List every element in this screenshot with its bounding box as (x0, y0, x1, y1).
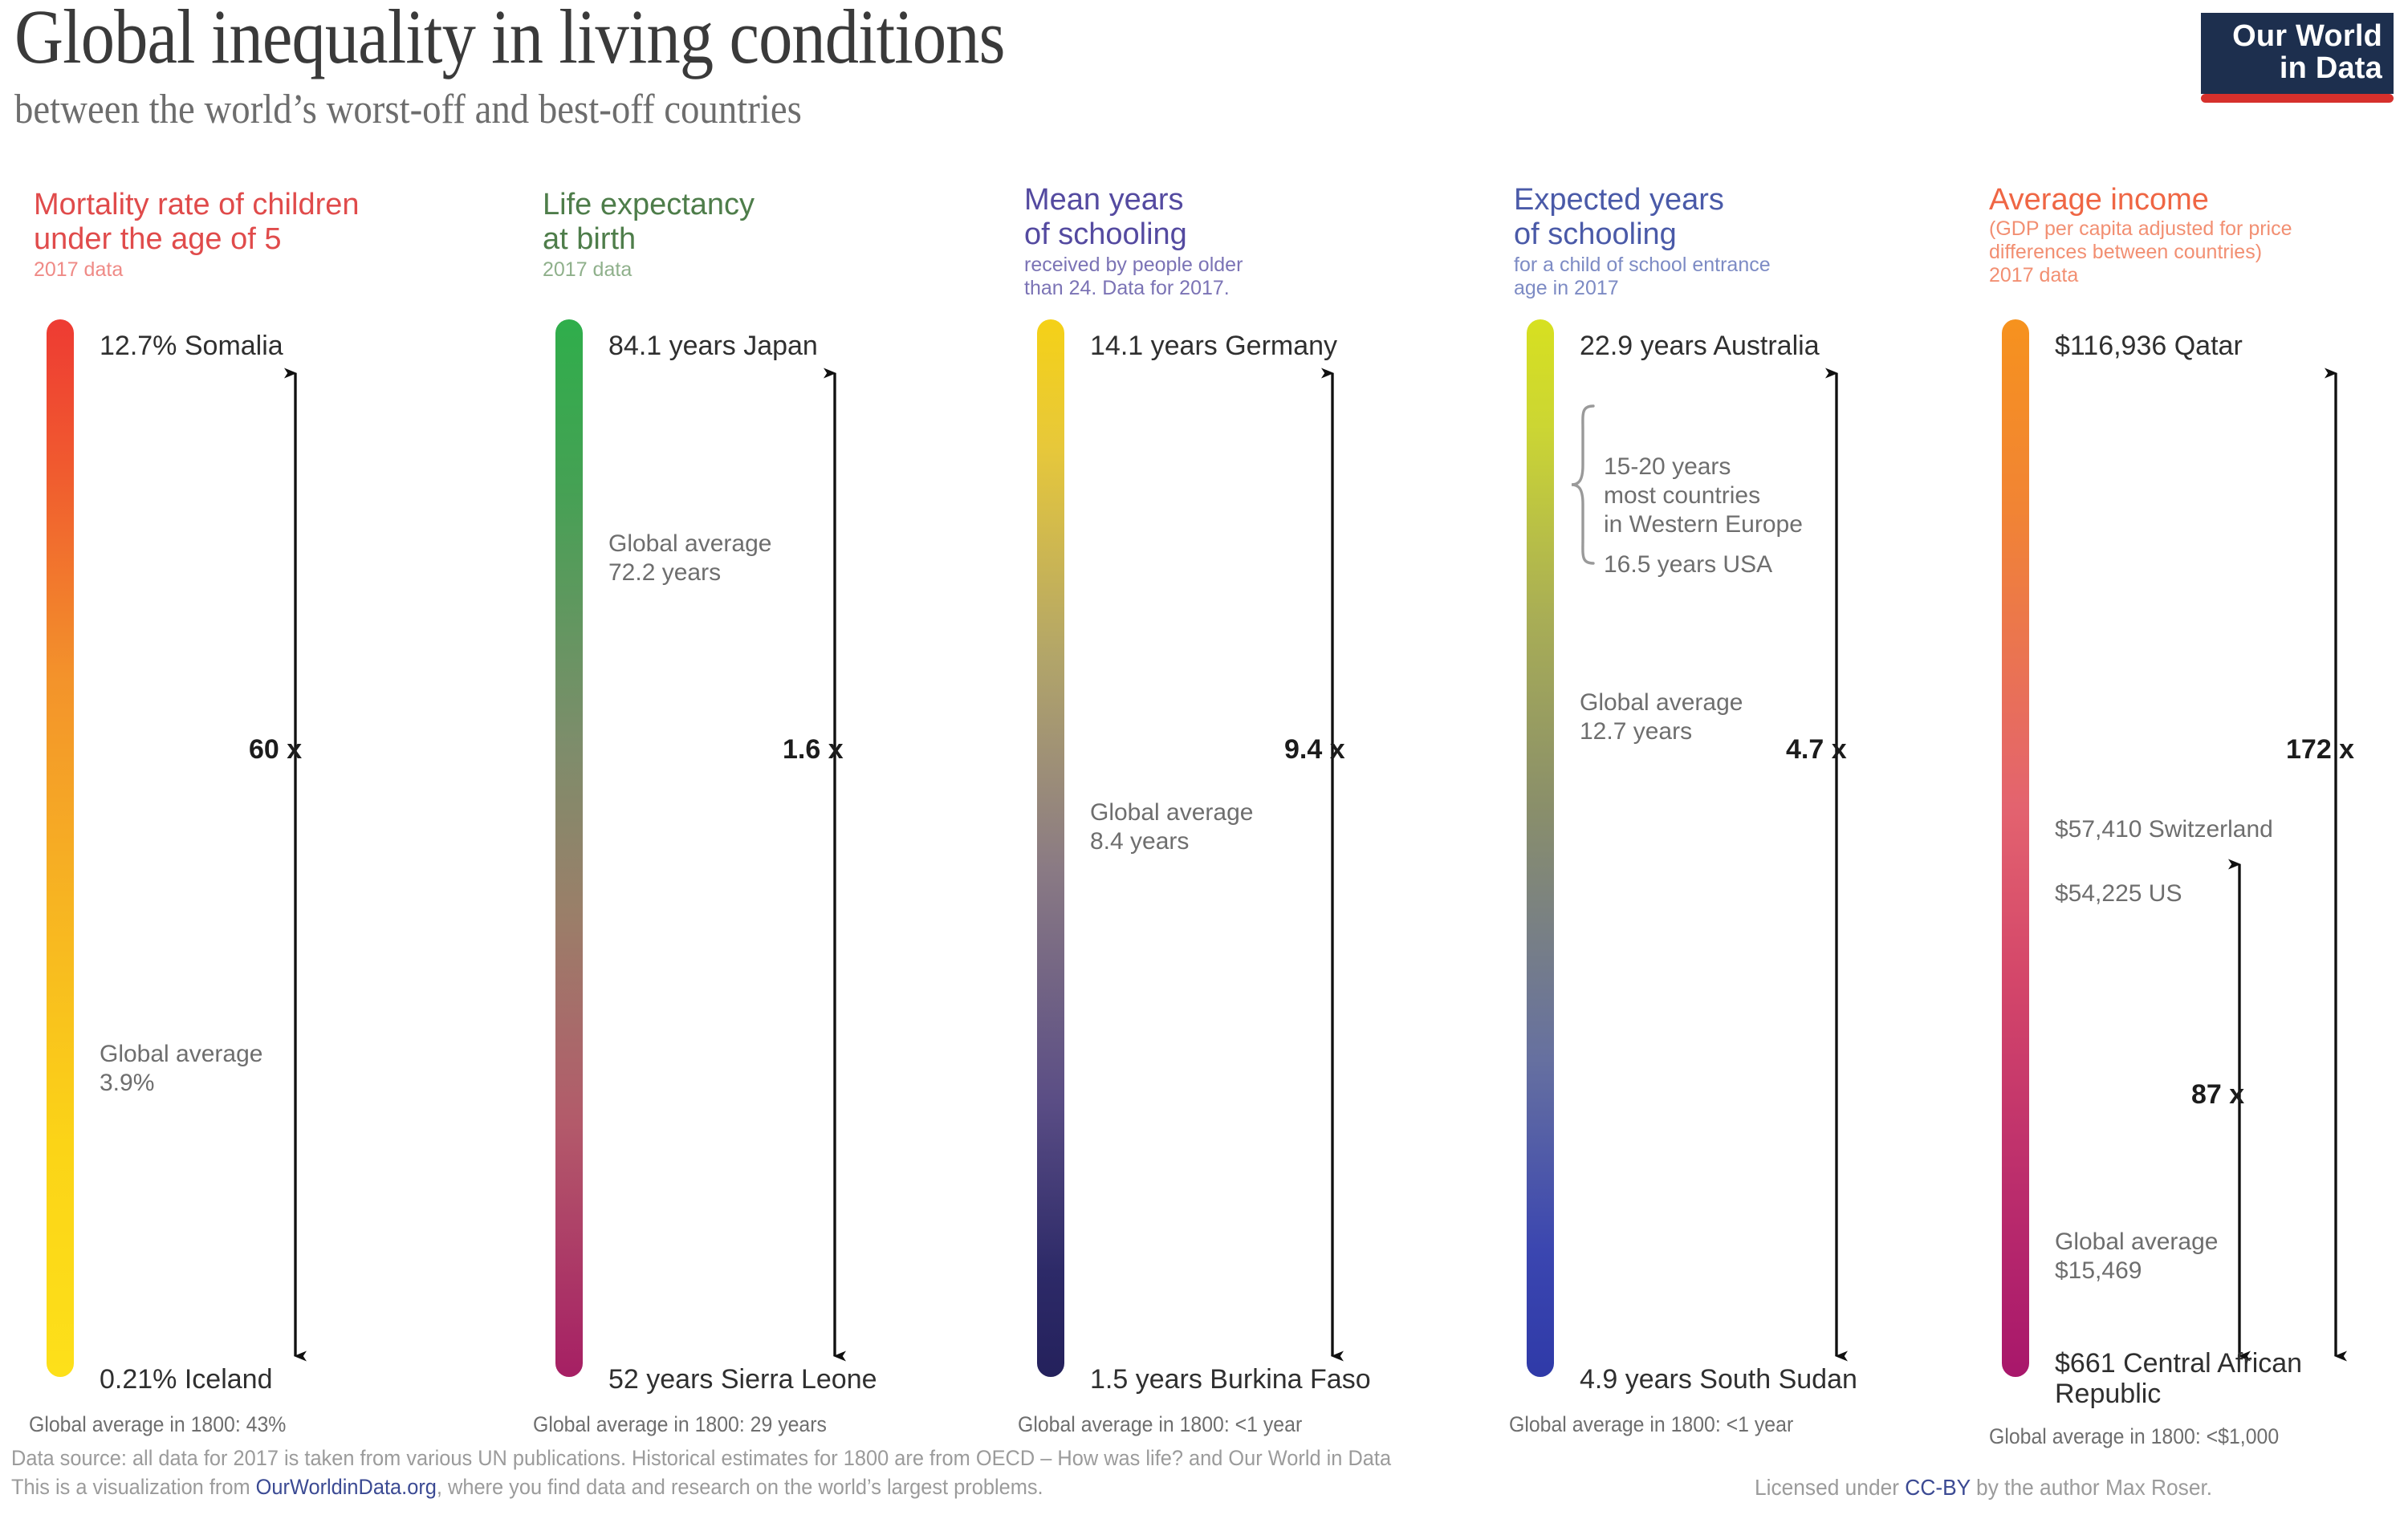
col2-global-average-value: 72.2 years (608, 558, 771, 587)
col4-bracket-line1: 15-20 years (1604, 453, 1803, 481)
footer: Data source: all data for 2017 is taken … (11, 1444, 1596, 1502)
col3-multiplier: 9.4 x (1284, 734, 1345, 766)
col2-historic: Global average in 1800: 29 years (533, 1412, 827, 1437)
col4-title-line1: Expected years (1514, 183, 1771, 217)
col4-bracket-line3: in Western Europe (1604, 510, 1803, 539)
col3-title-line2: of schooling (1024, 217, 1243, 252)
license-post: by the author Max Roser. (1971, 1475, 2212, 1500)
bar-expected-years-schooling (1527, 319, 1554, 1377)
col4-subtitle-line2: age in 2017 (1514, 277, 1771, 300)
col1-bottom-value: 0.21% Iceland (100, 1364, 273, 1395)
col4-subtitle-line1: for a child of school entrance (1514, 254, 1771, 277)
page-subtitle: between the world’s worst-off and best-o… (14, 88, 802, 132)
col4-bracket-note-b: 16.5 years USA (1604, 550, 1772, 579)
col5-multiplier-partial: 87 x (2191, 1079, 2244, 1111)
bar-average-income (2002, 319, 2029, 1377)
col2-top-value: 84.1 years Japan (608, 331, 818, 361)
license-notice: Licensed under CC-BY by the author Max R… (1755, 1475, 2212, 1501)
column-life-expectancy: Life expectancy at birth 2017 data (543, 188, 755, 282)
owid-logo-accent-bar (2201, 94, 2394, 103)
col2-bottom-value: 52 years Sierra Leone (608, 1364, 877, 1395)
col5-global-average: Global average $15,469 (2055, 1228, 2218, 1285)
col2-title-line1: Life expectancy (543, 188, 755, 222)
col2-title-line2: at birth (543, 222, 755, 257)
col4-bottom-value: 4.9 years South Sudan (1580, 1364, 1857, 1395)
column-average-income: Average income (GDP per capita adjusted … (1989, 183, 2292, 287)
cc-by-link[interactable]: CC-BY (1905, 1475, 1970, 1500)
col3-top-value: 14.1 years Germany (1090, 331, 1337, 361)
owid-logo-line2: in Data (2212, 52, 2382, 84)
col2-global-average: Global average 72.2 years (608, 530, 771, 587)
col5-bottom-value-line1: $661 Central African (2055, 1348, 2302, 1379)
col4-multiplier: 4.7 x (1786, 734, 1847, 766)
col5-bottom-value-line2: Republic (2055, 1379, 2302, 1409)
col1-title-line2: under the age of 5 (34, 222, 360, 257)
col1-historic: Global average in 1800: 43% (29, 1412, 286, 1437)
col3-global-average: Global average 8.4 years (1090, 798, 1253, 856)
col1-subtitle: 2017 data (34, 258, 360, 282)
col4-global-average-label: Global average (1580, 688, 1743, 717)
col4-top-value: 22.9 years Australia (1580, 331, 1820, 361)
col5-top-value: $116,936 Qatar (2055, 331, 2243, 361)
license-pre: Licensed under (1755, 1475, 1905, 1500)
column-expected-years-schooling: Expected years of schooling for a child … (1514, 183, 1771, 300)
col1-top-value: 12.7% Somalia (100, 331, 283, 361)
footer-line2-post: , where you find data and research on th… (437, 1475, 1043, 1499)
col5-bottom-value: $661 Central African Republic (2055, 1348, 2302, 1409)
col1-global-average-label: Global average (100, 1040, 262, 1069)
bar-child-mortality (47, 319, 74, 1377)
owid-logo-line1: Our World (2212, 20, 2382, 52)
footer-line1: Data source: all data for 2017 is taken … (11, 1444, 1596, 1473)
col5-marker-switzerland: $57,410 Switzerland (2055, 815, 2273, 844)
col3-historic: Global average in 1800: <1 year (1018, 1412, 1302, 1437)
bar-mean-years-schooling (1037, 319, 1064, 1377)
col1-global-average-value: 3.9% (100, 1069, 262, 1098)
footer-line2-pre: This is a visualization from (11, 1475, 256, 1499)
col3-subtitle-line2: than 24. Data for 2017. (1024, 277, 1243, 300)
col5-multiplier-full: 172 x (2286, 734, 2354, 766)
col4-global-average: Global average 12.7 years (1580, 688, 1743, 746)
column-mean-years-schooling: Mean years of schooling received by peop… (1024, 183, 1243, 300)
col5-global-average-value: $15,469 (2055, 1257, 2218, 1285)
footer-line2: This is a visualization from OurWorldinD… (11, 1473, 1596, 1502)
page-title: Global inequality in living conditions (14, 0, 1005, 78)
col4-global-average-value: 12.7 years (1580, 717, 1743, 746)
col4-bracket-note-a: 15-20 years most countries in Western Eu… (1604, 453, 1803, 539)
col3-bottom-value: 1.5 years Burkina Faso (1090, 1364, 1371, 1395)
col3-title-line1: Mean years (1024, 183, 1243, 217)
col5-marker-us: $54,225 US (2055, 879, 2182, 908)
col4-historic: Global average in 1800: <1 year (1509, 1412, 1793, 1437)
col5-subtitle-line2: differences between countries) (1989, 241, 2292, 264)
col3-global-average-label: Global average (1090, 798, 1253, 827)
col1-global-average: Global average 3.9% (100, 1040, 262, 1098)
col4-bracket-line2: most countries (1604, 481, 1803, 510)
col1-title-line1: Mortality rate of children (34, 188, 360, 222)
col3-global-average-value: 8.4 years (1090, 827, 1253, 856)
col5-historic: Global average in 1800: <$1,000 (1989, 1424, 2279, 1449)
col1-multiplier: 60 x (249, 734, 302, 766)
col3-subtitle-line1: received by people older (1024, 254, 1243, 277)
col4-title-line2: of schooling (1514, 217, 1771, 252)
owid-logo[interactable]: Our World in Data (2201, 13, 2394, 94)
col5-title-line1: Average income (1989, 183, 2292, 217)
col5-global-average-label: Global average (2055, 1228, 2218, 1257)
col2-multiplier: 1.6 x (783, 734, 844, 766)
col5-subtitle-line3: 2017 data (1989, 264, 2292, 287)
bracket-western-europe (1572, 406, 1593, 563)
col2-global-average-label: Global average (608, 530, 771, 558)
col5-subtitle-line1: (GDP per capita adjusted for price (1989, 217, 2292, 241)
column-child-mortality: Mortality rate of children under the age… (34, 188, 360, 282)
owid-link[interactable]: OurWorldinData.org (256, 1475, 437, 1499)
col2-subtitle: 2017 data (543, 258, 755, 282)
owid-logo-box: Our World in Data (2201, 13, 2394, 94)
bar-life-expectancy (555, 319, 583, 1377)
